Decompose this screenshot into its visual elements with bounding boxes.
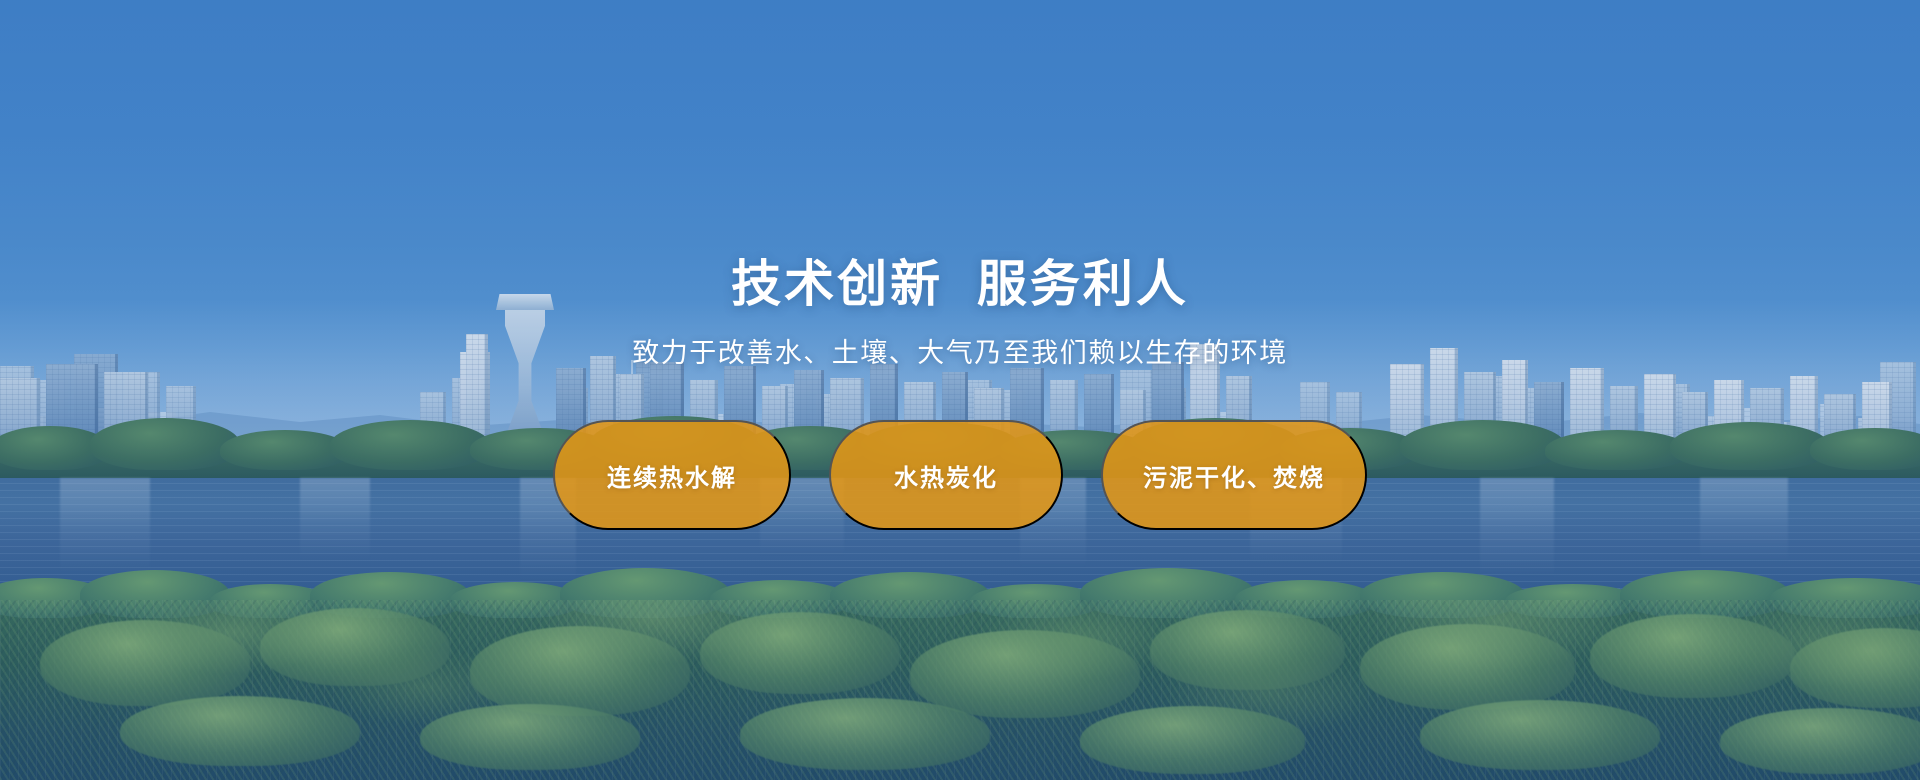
category-button-sludge-drying-incineration[interactable]: 污泥干化、焚烧 <box>1101 420 1367 530</box>
hero-content: 技术创新 服务利人 致力于改善水、土壤、大气乃至我们赖以生存的环境 连续热水解 … <box>0 0 1920 780</box>
category-button-continuous-thermal-hydrolysis[interactable]: 连续热水解 <box>553 420 791 530</box>
page-subtitle: 致力于改善水、土壤、大气乃至我们赖以生存的环境 <box>632 331 1288 370</box>
category-button-group: 连续热水解 水热炭化 污泥干化、焚烧 <box>553 420 1367 530</box>
category-button-hydrothermal-carbonization[interactable]: 水热炭化 <box>829 420 1063 530</box>
hero-banner: 技术创新 服务利人 致力于改善水、土壤、大气乃至我们赖以生存的环境 连续热水解 … <box>0 0 1920 780</box>
page-title: 技术创新 服务利人 <box>731 258 1189 311</box>
